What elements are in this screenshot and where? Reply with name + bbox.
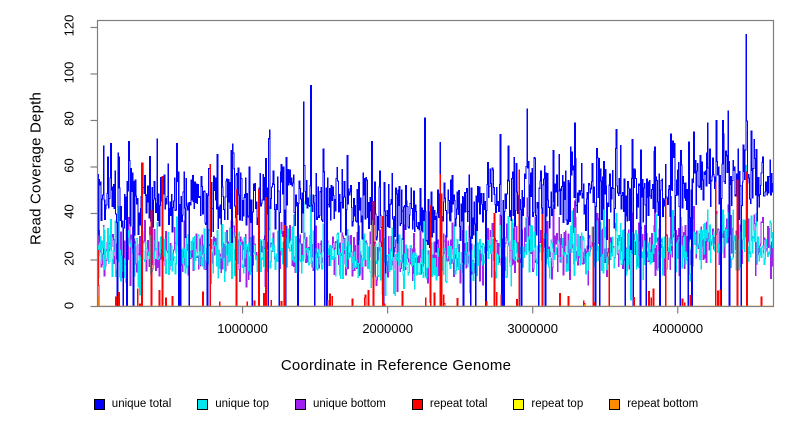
legend-label: unique top <box>215 398 269 410</box>
legend-label: repeat total <box>430 398 488 410</box>
legend-label: repeat top <box>531 398 583 410</box>
chart-legend: unique totalunique topunique bottomrepea… <box>0 398 792 410</box>
legend-swatch-icon <box>197 399 208 410</box>
y-tick-label: 120 <box>61 9 76 43</box>
x-tick-label: 1000000 <box>198 321 288 336</box>
chart-root: Read Coverage Depth Coordinate in Refere… <box>0 0 792 432</box>
legend-swatch-icon <box>513 399 524 410</box>
y-tick-label: 80 <box>61 102 76 136</box>
y-tick-label: 0 <box>61 288 76 322</box>
legend-item: unique top <box>197 398 269 410</box>
x-tick-label: 4000000 <box>633 321 723 336</box>
legend-swatch-icon <box>609 399 620 410</box>
y-tick-label: 40 <box>61 195 76 229</box>
legend-label: repeat bottom <box>627 398 698 410</box>
legend-item: repeat bottom <box>609 398 698 410</box>
legend-swatch-icon <box>295 399 306 410</box>
series-group <box>98 34 774 306</box>
legend-swatch-icon <box>94 399 105 410</box>
y-axis-title: Read Coverage Depth <box>28 59 45 279</box>
y-tick-label: 60 <box>61 148 76 182</box>
x-tick-label: 2000000 <box>343 321 433 336</box>
legend-item: repeat total <box>412 398 488 410</box>
y-tick-label: 100 <box>61 55 76 89</box>
series-line-unique-top <box>98 166 774 307</box>
legend-item: unique bottom <box>295 398 386 410</box>
legend-label: unique total <box>112 398 171 410</box>
legend-label: unique bottom <box>313 398 386 410</box>
y-tick-label: 20 <box>61 241 76 275</box>
legend-item: repeat top <box>513 398 583 410</box>
x-tick-label: 3000000 <box>488 321 578 336</box>
legend-item: unique total <box>94 398 171 410</box>
legend-swatch-icon <box>412 399 423 410</box>
x-axis-title: Coordinate in Reference Genome <box>0 357 792 374</box>
